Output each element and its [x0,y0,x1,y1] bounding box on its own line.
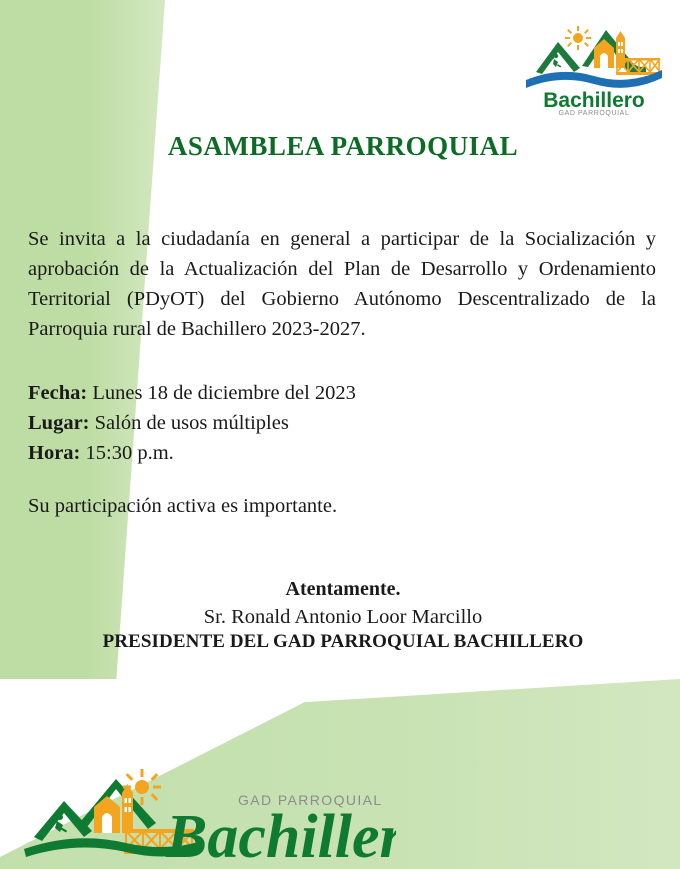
signature-salutation: Atentamente. [28,578,658,601]
bachillero-logo-bottom-graphic: Bachillero GAD PARROQUIAL [16,757,396,867]
page-title: ASAMBLEA PARROQUIAL [28,0,658,162]
document-content: ASAMBLEA PARROQUIAL Se invita a la ciuda… [28,0,658,653]
detail-value-lugar: Salón de usos múltiples [95,412,289,434]
logo-bottom-wordmark: Bachillero [165,803,396,867]
poster-page: Bachillero GAD PARROQUIAL ASAMBLEA PARRO… [0,0,680,869]
detail-value-hora: 15:30 p.m. [86,442,174,464]
bachillero-logo-bottom: Bachillero GAD PARROQUIAL [16,757,396,867]
detail-row-fecha: Fecha: Lunes 18 de diciembre del 2023 [28,378,658,408]
event-details: Fecha: Lunes 18 de diciembre del 2023 Lu… [28,345,658,468]
detail-label-fecha: Fecha: [28,382,87,404]
detail-value-fecha: Lunes 18 de diciembre del 2023 [92,382,356,404]
logo-bottom-subtitle: GAD PARROQUIAL [238,792,383,808]
detail-label-hora: Hora: [28,442,80,464]
body-paragraph: Se invita a la ciudadanía en general a p… [28,162,656,345]
signature-role: PRESIDENTE DEL GAD PARROQUIAL BACHILLERO [28,631,658,653]
detail-label-lugar: Lugar: [28,412,90,434]
closing-line: Su participación activa es importante. [28,468,658,518]
signature-block: Atentamente. Sr. Ronald Antonio Loor Mar… [28,518,658,653]
detail-row-lugar: Lugar: Salón de usos múltiples [28,408,658,438]
signature-name: Sr. Ronald Antonio Loor Marcillo [28,606,658,629]
detail-row-hora: Hora: 15:30 p.m. [28,438,658,468]
